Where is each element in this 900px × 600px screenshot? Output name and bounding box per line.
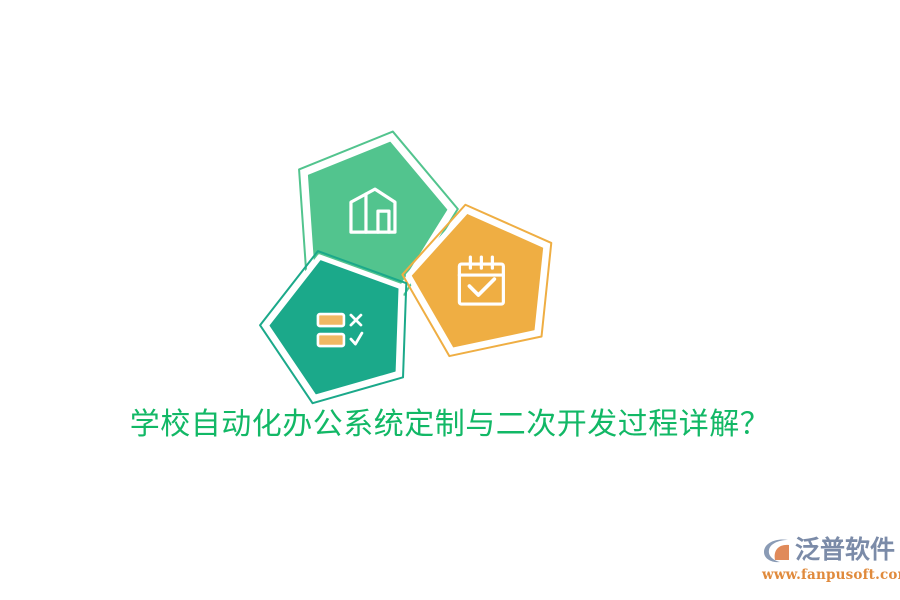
brand-logo: 泛普软件 www.fanpusoft.com: [762, 534, 894, 588]
checklist-bar-1: [318, 314, 344, 326]
checklist-bar-2: [318, 334, 344, 346]
brand-logo-row: 泛普软件: [762, 534, 894, 566]
page-title: 学校自动化办公系统定制与二次开发过程详解？: [0, 404, 900, 446]
page-canvas: 学校自动化办公系统定制与二次开发过程详解？ 泛普软件 www.fanpusoft…: [0, 0, 900, 600]
fanpu-swoosh-icon: [762, 536, 792, 564]
hero-illustration: [260, 135, 570, 415]
brand-name: 泛普软件: [795, 536, 895, 564]
brand-url: www.fanpusoft.com: [762, 567, 894, 583]
